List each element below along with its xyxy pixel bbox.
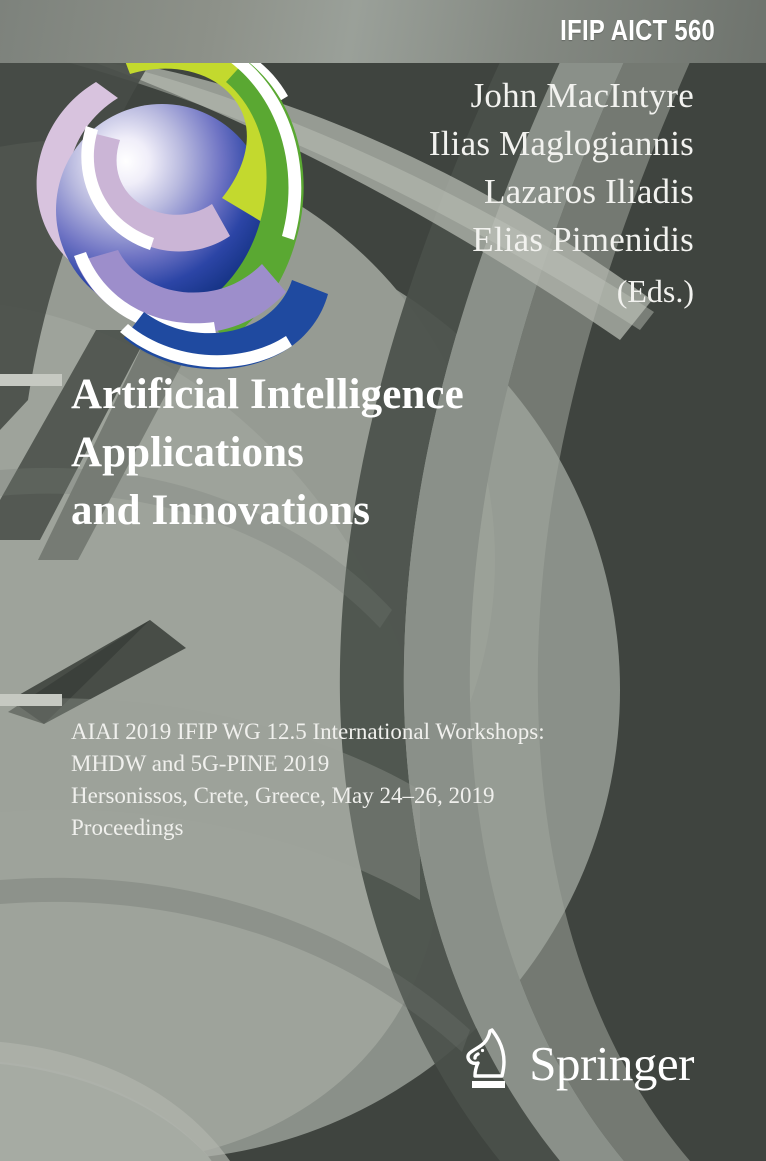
edge-accent-bar-bottom (0, 694, 62, 706)
editor-name: Ilias Maglogiannis (274, 120, 694, 168)
subtitle-line: AIAI 2019 IFIP WG 12.5 International Wor… (71, 716, 731, 748)
publisher-logo: Springer (461, 1024, 694, 1096)
publisher-name: Springer (529, 1038, 694, 1096)
book-title: Artificial Intelligence Applications and… (71, 366, 711, 540)
editors-role-label: (Eds.) (274, 264, 694, 316)
series-label: IFIP AICT 560 (560, 15, 766, 48)
book-cover: IFIP AICT 560 John MacIntyre Ilias Maglo… (0, 0, 766, 1161)
editors-block: John MacIntyre Ilias Maglogiannis Lazaro… (274, 72, 694, 316)
book-subtitle: AIAI 2019 IFIP WG 12.5 International Wor… (71, 716, 731, 844)
subtitle-line: Proceedings (71, 812, 731, 844)
title-line: and Innovations (71, 482, 711, 540)
editor-name: Lazaros Iliadis (274, 168, 694, 216)
series-banner: IFIP AICT 560 (0, 0, 766, 63)
subtitle-line: MHDW and 5G-PINE 2019 (71, 748, 731, 780)
springer-knight-icon (461, 1024, 513, 1096)
title-line: Applications (71, 424, 711, 482)
title-line: Artificial Intelligence (71, 366, 711, 424)
subtitle-line: Hersonissos, Crete, Greece, May 24–26, 2… (71, 780, 731, 812)
editor-name: John MacIntyre (274, 72, 694, 120)
editor-name: Elias Pimenidis (274, 216, 694, 264)
edge-accent-bar-top (0, 374, 62, 386)
